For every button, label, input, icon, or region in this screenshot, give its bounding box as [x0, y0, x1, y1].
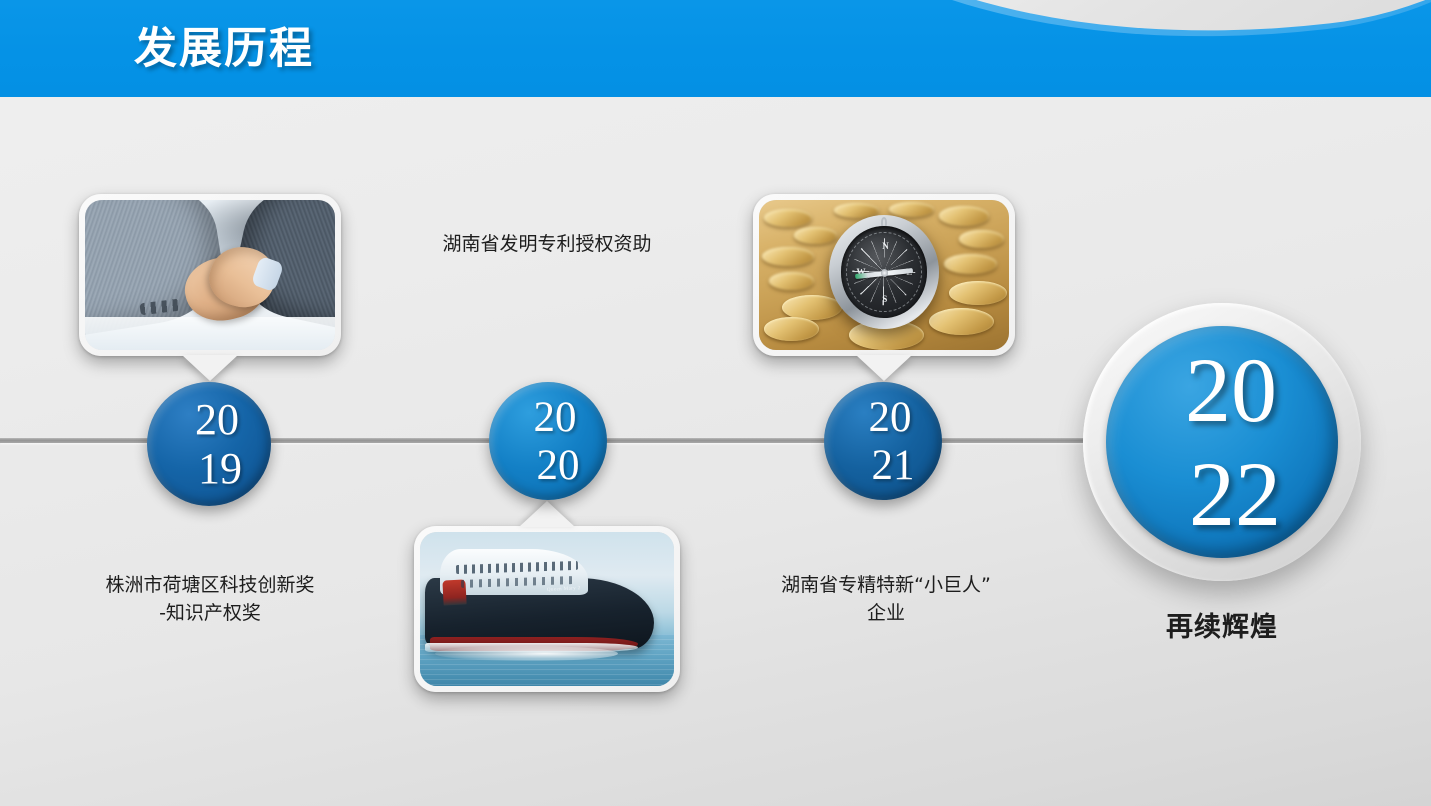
timeline-node-2021[interactable]: 20 21	[824, 382, 942, 500]
year-2021-top: 20	[869, 396, 912, 439]
caption-2022: 再续辉煌	[1082, 608, 1362, 647]
cruise-ship-photo: Queen Mary 2	[420, 532, 674, 686]
photo-card-compass-coins[interactable]: N S E W	[753, 194, 1015, 356]
year-2019-bottom: 19	[198, 447, 242, 491]
coin	[764, 317, 819, 341]
coin	[929, 308, 994, 335]
callout-tail-down-icon	[182, 355, 238, 381]
coin	[949, 281, 1007, 305]
callout-tail-down-icon	[856, 355, 912, 381]
compass-icon: N S E W	[829, 215, 939, 329]
timeline-node-2022[interactable]: 20 22	[1083, 303, 1361, 581]
compass-dial-face: N S E W	[841, 226, 927, 317]
compass-on-coins-photo: N S E W	[759, 200, 1009, 350]
callout-tail-up-icon	[519, 501, 575, 527]
caption-2019: 株洲市荷塘区科技创新奖 -知识产权奖	[50, 572, 370, 627]
year-2020-top: 20	[534, 396, 577, 439]
handshake-illustration	[85, 200, 335, 350]
slide-canvas: 发展历程	[0, 0, 1431, 806]
year-2019-top: 20	[195, 398, 239, 442]
handshake-desk	[85, 317, 335, 350]
photo-card-handshake[interactable]	[79, 194, 341, 356]
year-2021-bottom: 21	[872, 444, 915, 487]
timeline-node-2022-inner: 20 22	[1106, 326, 1338, 558]
coin	[764, 209, 812, 227]
coin	[794, 227, 837, 244]
handshake-photo	[85, 200, 335, 350]
header-swoosh-highlight	[750, 0, 1431, 84]
coin	[939, 206, 989, 226]
caption-2020: 湖南省发明专利授权资助	[387, 231, 707, 259]
timeline-node-2020[interactable]: 20 20	[489, 382, 607, 500]
compass-north-label: N	[882, 241, 889, 251]
coin	[944, 254, 997, 274]
coin	[769, 272, 814, 290]
page-title: 发展历程	[134, 14, 314, 76]
compass-pivot	[881, 269, 888, 276]
coin	[959, 230, 1004, 248]
compass-south-label: S	[882, 294, 887, 304]
coin	[889, 202, 934, 217]
photo-card-cruise-ship[interactable]: Queen Mary 2	[414, 526, 680, 692]
timeline-node-2019[interactable]: 20 19	[147, 382, 271, 506]
year-2022-bottom: 22	[1189, 448, 1281, 540]
ship-illustration: Queen Mary 2	[420, 532, 674, 686]
coin	[762, 247, 815, 267]
year-2020-bottom: 20	[537, 444, 580, 487]
year-2022-top: 20	[1185, 344, 1277, 436]
coins-illustration: N S E W	[759, 200, 1009, 350]
caption-2021: 湖南省专精特新“小巨人” 企业	[726, 572, 1046, 627]
